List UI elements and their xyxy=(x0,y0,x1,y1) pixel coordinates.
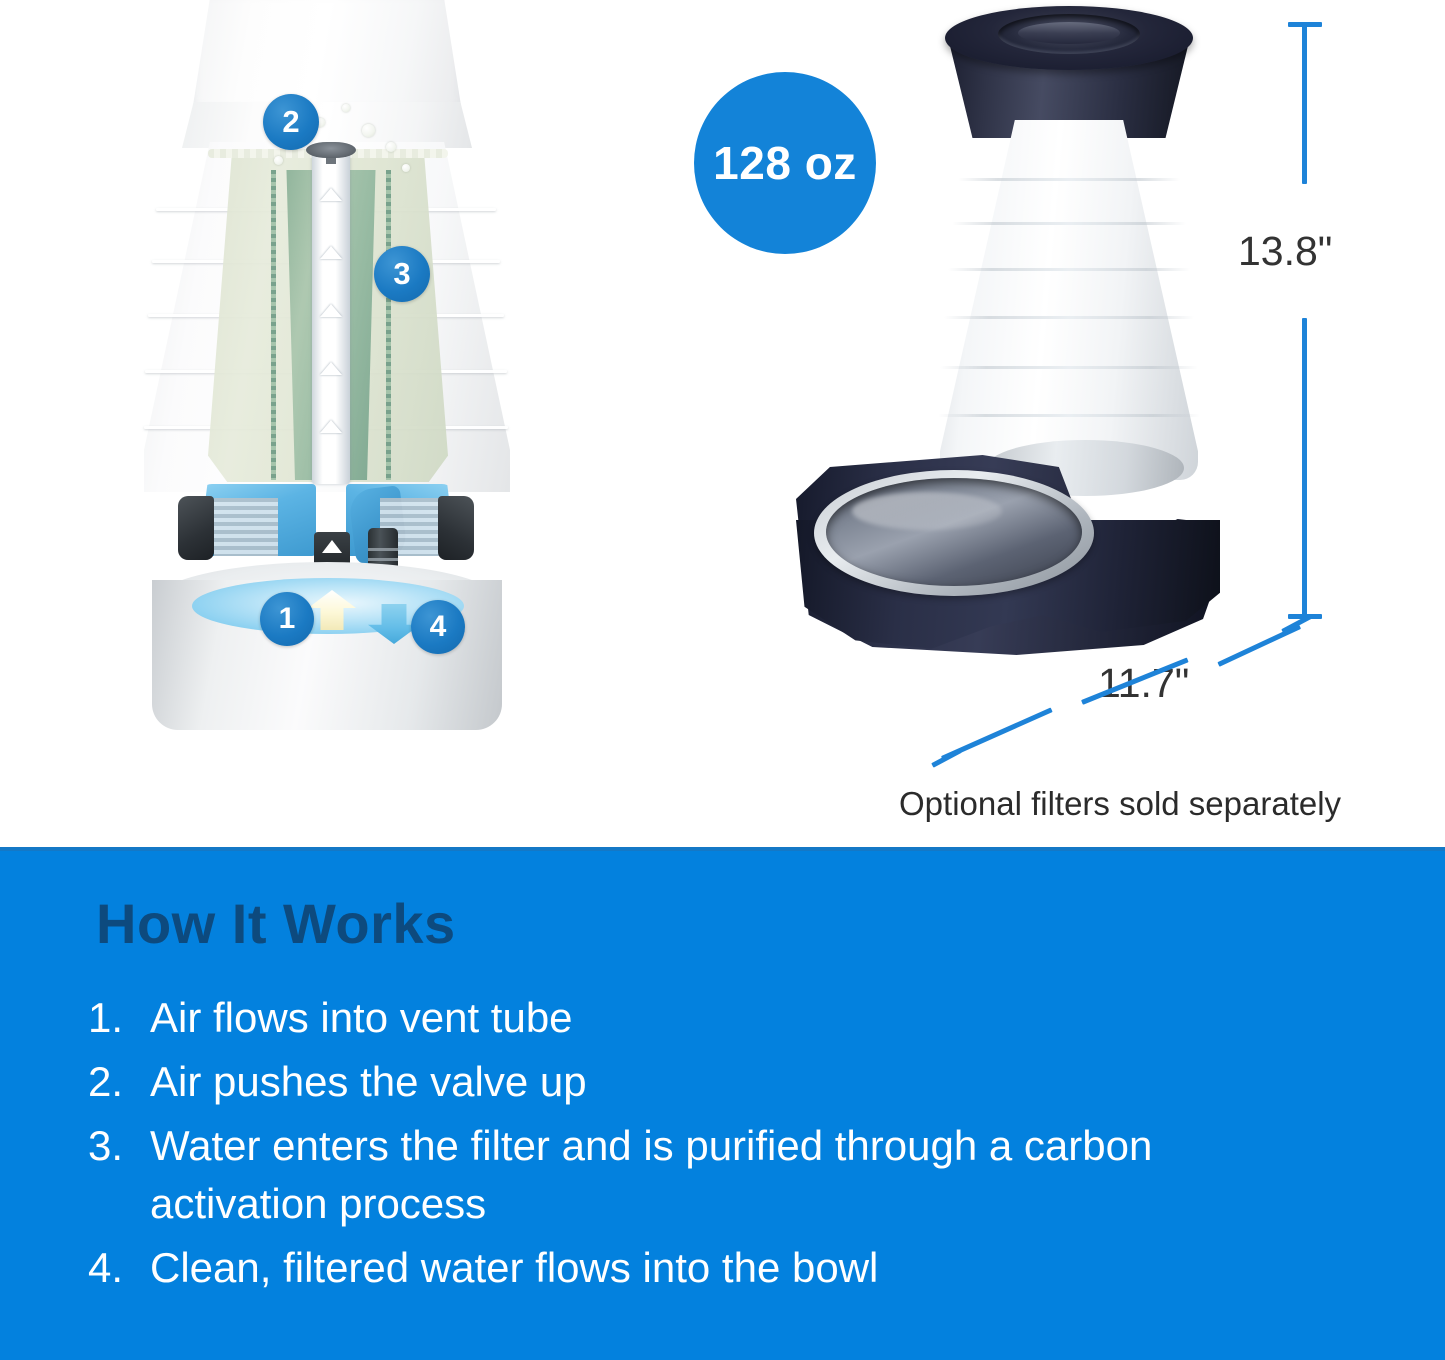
step-number: 3. xyxy=(88,1117,150,1175)
bottle-rib xyxy=(938,414,1200,417)
reservoir-neck xyxy=(192,0,462,112)
valve-up-arrow-icon xyxy=(322,540,342,553)
height-dimension-line-lower xyxy=(1302,318,1307,618)
vent-valve-cap xyxy=(306,142,356,158)
top-image-section: 1 2 3 4 128 oz xyxy=(0,0,1445,847)
bowl-highlight xyxy=(852,492,1002,530)
height-dimension-line-upper xyxy=(1302,24,1307,184)
product-infographic: 1 2 3 4 128 oz xyxy=(0,0,1445,1360)
product-photo xyxy=(790,0,1220,700)
list-item: 3. Water enters the filter and is purifi… xyxy=(88,1117,1268,1233)
vent-up-arrow-icon xyxy=(320,362,342,375)
air-bubble xyxy=(386,142,396,152)
step-text: Clean, filtered water flows into the bow… xyxy=(150,1239,878,1297)
water-reservoir-bottle xyxy=(940,120,1198,480)
vent-up-arrow-icon xyxy=(320,420,342,433)
step-text: Water enters the filter and is purified … xyxy=(150,1117,1240,1233)
air-bubble xyxy=(342,104,350,112)
height-dimension-label: 13.8" xyxy=(1238,228,1332,275)
valve-endcap-left xyxy=(178,496,214,560)
width-dimension-tick-left xyxy=(931,748,962,767)
callout-badge-4-label: 4 xyxy=(430,610,447,644)
air-bubble xyxy=(274,156,283,165)
list-item: 4. Clean, filtered water flows into the … xyxy=(88,1239,1268,1297)
step-number: 4. xyxy=(88,1239,150,1297)
how-it-works-title: How It Works xyxy=(96,891,456,956)
callout-badge-2-label: 2 xyxy=(282,104,299,140)
callout-badge-3: 3 xyxy=(374,246,430,302)
filter-edge-left xyxy=(271,170,276,480)
callout-badge-1: 1 xyxy=(260,592,314,646)
lid-handle-grip xyxy=(1018,22,1120,44)
vent-tube xyxy=(312,154,350,484)
filter-seat-ridges-left xyxy=(214,498,278,556)
bottle-rib xyxy=(952,222,1186,225)
spout-ring xyxy=(368,558,398,561)
filters-footnote: Optional filters sold separately xyxy=(899,785,1341,823)
bottle-rib xyxy=(958,178,1180,181)
how-it-works-panel: How It Works 1. Air flows into vent tube… xyxy=(0,847,1445,1360)
step-number: 1. xyxy=(88,989,150,1047)
cutaway-diagram: 1 2 3 4 xyxy=(130,0,560,752)
how-it-works-steps: 1. Air flows into vent tube 2. Air pushe… xyxy=(88,989,1268,1303)
list-item: 2. Air pushes the valve up xyxy=(88,1053,1268,1111)
bottle-rib xyxy=(940,366,1198,369)
callout-badge-3-label: 3 xyxy=(393,256,410,292)
step-text: Air flows into vent tube xyxy=(150,989,573,1047)
vent-up-arrow-icon xyxy=(320,246,342,259)
callout-badge-4: 4 xyxy=(411,600,465,654)
bottle-rib xyxy=(948,268,1190,271)
list-item: 1. Air flows into vent tube xyxy=(88,989,1268,1047)
bottle-rib xyxy=(944,316,1194,319)
vent-up-arrow-icon xyxy=(320,304,342,317)
filter-edge-right xyxy=(386,170,391,480)
air-bubble xyxy=(402,164,410,172)
air-bubble xyxy=(362,124,375,137)
valve-endcap-right xyxy=(438,496,474,560)
step-number: 2. xyxy=(88,1053,150,1111)
callout-badge-1-label: 1 xyxy=(279,602,296,636)
step-text: Air pushes the valve up xyxy=(150,1053,587,1111)
vent-up-arrow-icon xyxy=(320,188,342,201)
callout-badge-2: 2 xyxy=(263,94,319,150)
spout-ring xyxy=(368,548,398,551)
